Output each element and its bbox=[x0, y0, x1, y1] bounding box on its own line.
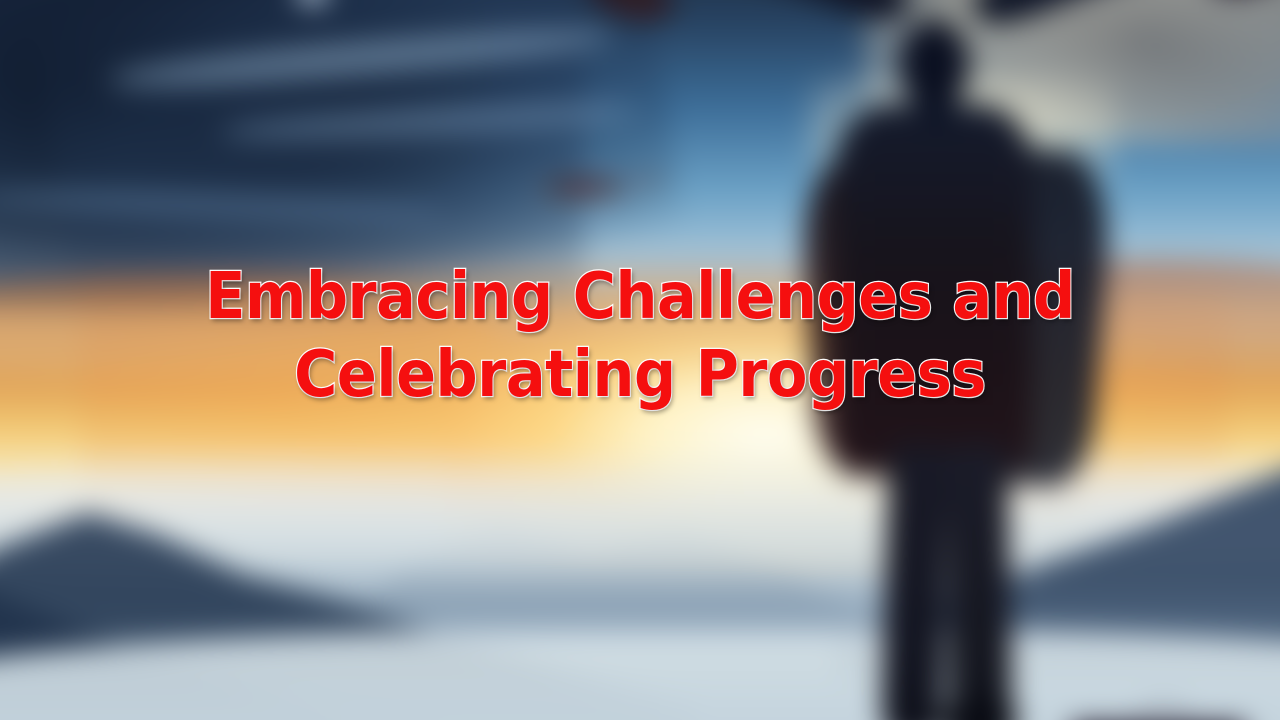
raised-arm-right bbox=[967, 0, 1245, 35]
head bbox=[899, 20, 969, 108]
banner-title: Embracing Challenges and Celebrating Pro… bbox=[103, 258, 1178, 414]
briefcase-icon bbox=[1071, 706, 1246, 720]
hand-right bbox=[1202, 0, 1280, 3]
briefcase-handle bbox=[1134, 706, 1193, 720]
hand-left bbox=[578, 0, 680, 33]
title-container: Embracing Challenges and Celebrating Pro… bbox=[0, 258, 1280, 414]
hero-banner: Embracing Challenges and Celebrating Pro… bbox=[0, 0, 1280, 720]
leg-left bbox=[881, 443, 948, 720]
raised-arm-left bbox=[655, 0, 915, 31]
leg-right bbox=[945, 443, 1012, 720]
